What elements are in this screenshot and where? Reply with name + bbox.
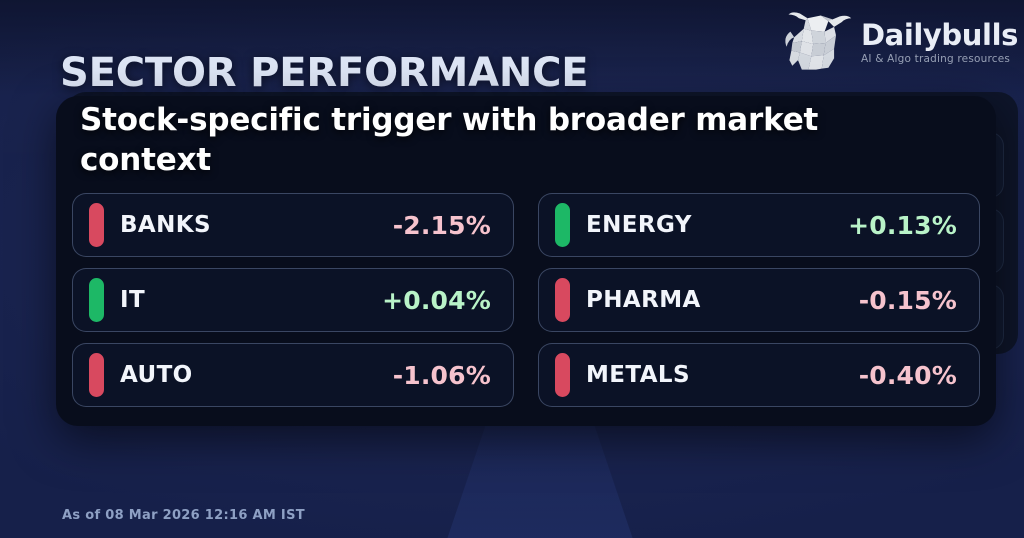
sector-performance-slide: BANKS+1.2%ENERGY+1.9%IT-0.8%PHARMA-0.4%A… bbox=[0, 0, 1024, 538]
sector-card[interactable]: PHARMA-0.15% bbox=[538, 268, 980, 332]
timestamp-label: As of 08 Mar 2026 12:16 AM IST bbox=[62, 508, 305, 523]
down-indicator-icon bbox=[89, 203, 104, 247]
sector-change-value: -2.15% bbox=[393, 211, 491, 240]
up-indicator-icon bbox=[555, 203, 570, 247]
sector-name: PHARMA bbox=[586, 287, 701, 313]
sector-change-value: +0.13% bbox=[848, 211, 957, 240]
sector-card[interactable]: IT+0.04% bbox=[72, 268, 514, 332]
up-indicator-icon bbox=[89, 278, 104, 322]
bull-icon bbox=[779, 12, 855, 74]
sector-card[interactable]: ENERGY+0.13% bbox=[538, 193, 980, 257]
down-indicator-icon bbox=[555, 353, 570, 397]
brand-tagline: AI & Algo trading resources bbox=[861, 53, 1018, 65]
sector-name: AUTO bbox=[120, 362, 193, 388]
sector-panel: Stock-specific trigger with broader mark… bbox=[56, 96, 996, 426]
sector-name: ENERGY bbox=[586, 212, 692, 238]
sector-name: METALS bbox=[586, 362, 690, 388]
sector-name: IT bbox=[120, 287, 145, 313]
down-indicator-icon bbox=[89, 353, 104, 397]
sector-name: BANKS bbox=[120, 212, 211, 238]
brand-name: Dailybulls bbox=[861, 21, 1018, 50]
sector-card[interactable]: AUTO-1.06% bbox=[72, 343, 514, 407]
page-title: SECTOR PERFORMANCE bbox=[60, 50, 588, 96]
sector-change-value: -0.40% bbox=[859, 361, 957, 390]
brand-logo: Dailybulls AI & Algo trading resources bbox=[779, 8, 1004, 78]
panel-headline: Stock-specific trigger with broader mark… bbox=[80, 100, 840, 181]
down-indicator-icon bbox=[555, 278, 570, 322]
sector-change-value: +0.04% bbox=[382, 286, 491, 315]
sector-card[interactable]: BANKS-2.15% bbox=[72, 193, 514, 257]
sector-card[interactable]: METALS-0.40% bbox=[538, 343, 980, 407]
sector-change-value: -0.15% bbox=[859, 286, 957, 315]
sector-change-value: -1.06% bbox=[393, 361, 491, 390]
sector-card-grid: BANKS-2.15%ENERGY+0.13%IT+0.04%PHARMA-0.… bbox=[72, 193, 980, 407]
